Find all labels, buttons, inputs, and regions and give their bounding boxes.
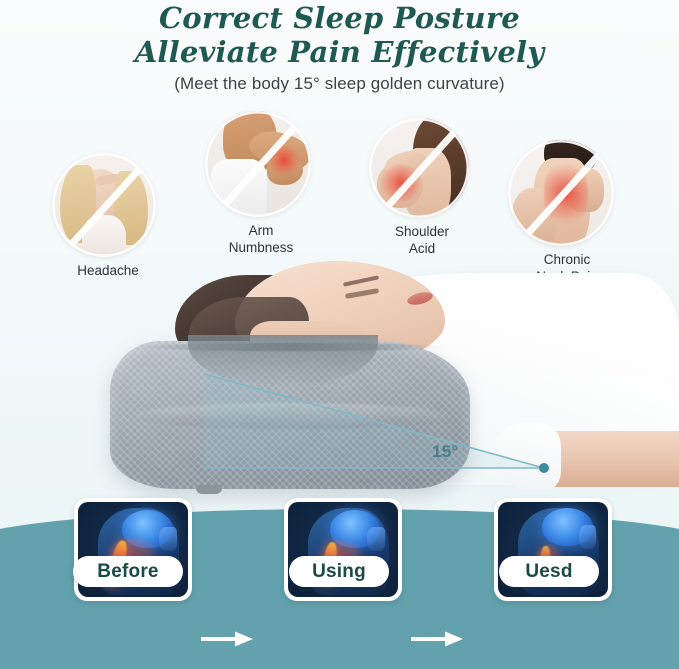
comparison-card-before[interactable]: Before — [74, 498, 192, 601]
chronic-neck-pain-photo-badge — [508, 140, 614, 246]
comparison-row: Before Using — [0, 494, 679, 669]
arrow-right-icon — [411, 631, 463, 647]
anatomy-face-profile — [579, 525, 596, 550]
arrow-right-icon — [201, 631, 253, 647]
page-subtitle: (Meet the body 15° sleep golden curvatur… — [0, 74, 679, 94]
step-label-before: Before — [73, 556, 183, 587]
badge-ring — [52, 153, 156, 257]
product-infographic: Correct Sleep Posture Alleviate Pain Eff… — [0, 0, 679, 669]
headache-photo-badge — [52, 153, 156, 257]
shoulder-acid-photo-badge — [369, 118, 469, 218]
badge-ring — [508, 140, 614, 246]
title-line-2: Alleviate Pain Effectively — [0, 36, 679, 70]
arm-numbness-photo-badge — [205, 111, 311, 217]
step-label-used: Uesd — [499, 556, 599, 587]
pillow-zipper-tab — [196, 485, 222, 494]
anatomy-face-profile — [159, 527, 177, 552]
page-title: Correct Sleep Posture Alleviate Pain Eff… — [0, 2, 679, 69]
angle-vertex-dot — [539, 463, 549, 473]
symptom-label-arm-numbness: Arm Numbness — [205, 223, 317, 256]
badge-ring — [369, 118, 469, 218]
title-line-1: Correct Sleep Posture — [159, 1, 520, 35]
angle-indicator — [196, 356, 556, 484]
symptom-badge-shoulder-acid: Shoulder Acid — [369, 118, 475, 257]
comparison-card-used[interactable]: Uesd — [494, 498, 612, 601]
anatomy-face-profile — [367, 527, 385, 552]
badge-ring — [205, 111, 311, 217]
symptom-label-shoulder-acid: Shoulder Acid — [369, 224, 475, 257]
symptom-badge-arm-numbness: Arm Numbness — [205, 111, 317, 256]
comparison-card-using[interactable]: Using — [284, 498, 402, 601]
step-label-using: Using — [289, 556, 389, 587]
